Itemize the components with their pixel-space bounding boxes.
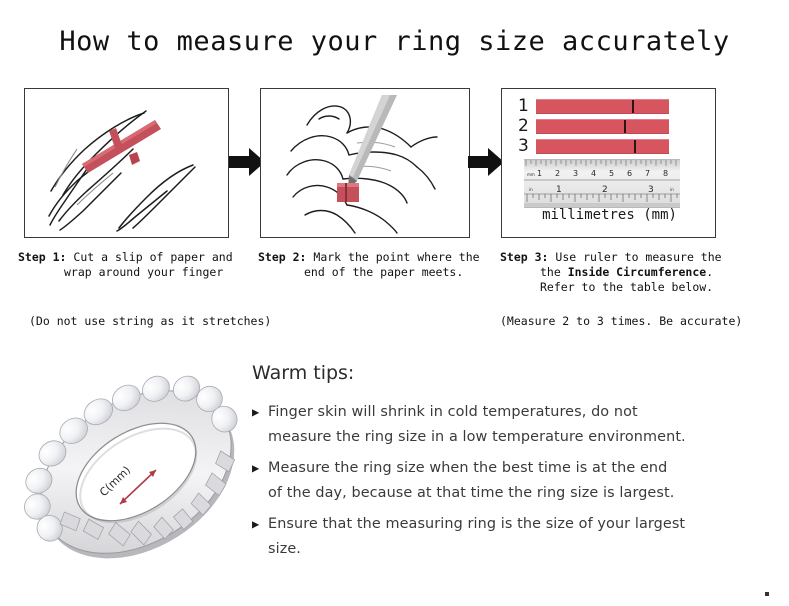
- arrow-step2-to-step3: [468, 145, 504, 179]
- paper-strip-shape: [82, 120, 161, 173]
- svg-text:in: in: [670, 187, 674, 192]
- inside-circumference-emphasis: Inside Circumference: [568, 265, 706, 279]
- step-3-line1: Use ruler to measure the: [555, 250, 721, 264]
- eternity-ring-illustration-icon: D(mm) C(mm): [20, 352, 252, 584]
- step-2-label: Step 2:: [258, 250, 306, 264]
- scan-artifact: [765, 592, 769, 596]
- svg-text:7: 7: [645, 169, 650, 178]
- svg-text:2: 2: [555, 169, 560, 178]
- svg-text:mm: mm: [527, 172, 535, 177]
- tip-1-line1: Finger skin will shrink in cold temperat…: [268, 404, 638, 420]
- step-2-illustration-box: [260, 88, 470, 238]
- warm-tips-heading: Warm tips:: [252, 362, 772, 384]
- svg-text:2: 2: [602, 185, 608, 195]
- svg-text:3: 3: [648, 185, 654, 195]
- svg-text:3: 3: [573, 169, 578, 178]
- strip-number: 3: [518, 138, 536, 155]
- measured-strip-row: 2: [518, 118, 669, 135]
- step-3-caption: Step 3: Use ruler to measure the the Ins…: [500, 250, 740, 295]
- step-2-caption: Step 2: Mark the point where the end of …: [258, 250, 490, 280]
- step-1-line1: Cut a slip of paper and: [73, 250, 232, 264]
- step-1-label: Step 1:: [18, 250, 66, 264]
- steps-row: 1 2 3: [0, 88, 789, 240]
- warm-tips-section: Warm tips: ▶ Finger skin will shrink in …: [252, 362, 772, 568]
- svg-text:8: 8: [663, 169, 668, 178]
- svg-text:1: 1: [537, 169, 542, 178]
- step-1-illustration-box: [24, 88, 229, 238]
- paper-strip: [536, 99, 669, 114]
- svg-text:5: 5: [609, 169, 614, 178]
- tip-text: Ensure that the measuring ring is the si…: [268, 512, 685, 562]
- tip-1-line2: measure the ring size in a low temperatu…: [268, 429, 686, 445]
- tip-item: ▶ Finger skin will shrink in cold temper…: [252, 400, 772, 450]
- tip-item: ▶ Ensure that the measuring ring is the …: [252, 512, 772, 562]
- measured-strip-row: 3: [518, 138, 669, 155]
- step-3-line2-suffix: .: [706, 265, 713, 279]
- paper-strip: [536, 119, 669, 134]
- step-3-illustration-box: 1 2 3: [501, 88, 716, 238]
- step-3-line2-prefix: the: [540, 265, 568, 279]
- strip-number: 1: [518, 98, 536, 115]
- pen-shape: [348, 95, 397, 189]
- tip-2-line2: of the day, because at that time the rin…: [268, 485, 674, 501]
- svg-text:1: 1: [556, 185, 562, 195]
- hand-with-paper-strip-icon: [25, 89, 227, 236]
- ruler-unit-caption: millimetres (mm): [502, 207, 716, 223]
- ring-diagram: D(mm) C(mm): [20, 352, 252, 584]
- step-2-line2: end of the paper meets.: [304, 265, 463, 279]
- paper-strip-shape: [337, 183, 359, 202]
- step-1-caption: Step 1: Cut a slip of paper and wrap aro…: [18, 250, 250, 280]
- tip-3-line2: size.: [268, 541, 301, 557]
- ruler-graphic: mm 123 456 78 in 123 in: [524, 159, 680, 208]
- bullet-icon: ▶: [252, 400, 268, 425]
- ring-size-guide-page: How to measure your ring size accurately: [0, 0, 789, 606]
- measured-strip-row: 1: [518, 98, 669, 115]
- step-3-label: Step 3:: [500, 250, 548, 264]
- step-1-note: (Do not use string as it stretches): [29, 314, 271, 328]
- strip-number: 2: [518, 118, 536, 135]
- tip-item: ▶ Measure the ring size when the best ti…: [252, 456, 772, 506]
- tip-text: Measure the ring size when the best time…: [268, 456, 674, 506]
- page-title: How to measure your ring size accurately: [0, 26, 789, 57]
- hand-with-pen-marking-icon: [261, 89, 468, 236]
- svg-text:in: in: [529, 187, 533, 192]
- step-3-line3: Refer to the table below.: [540, 280, 713, 294]
- bullet-icon: ▶: [252, 512, 268, 537]
- step-1-line2: wrap around your finger: [64, 265, 223, 279]
- svg-text:4: 4: [591, 169, 596, 178]
- paper-strip: [536, 139, 669, 154]
- tip-text: Finger skin will shrink in cold temperat…: [268, 400, 686, 450]
- svg-text:6: 6: [627, 169, 632, 178]
- tip-2-line1: Measure the ring size when the best time…: [268, 460, 667, 476]
- step-3-note: (Measure 2 to 3 times. Be accurate): [500, 314, 742, 328]
- tip-3-line1: Ensure that the measuring ring is the si…: [268, 516, 685, 532]
- step-2-line1: Mark the point where the: [313, 250, 479, 264]
- bullet-icon: ▶: [252, 456, 268, 481]
